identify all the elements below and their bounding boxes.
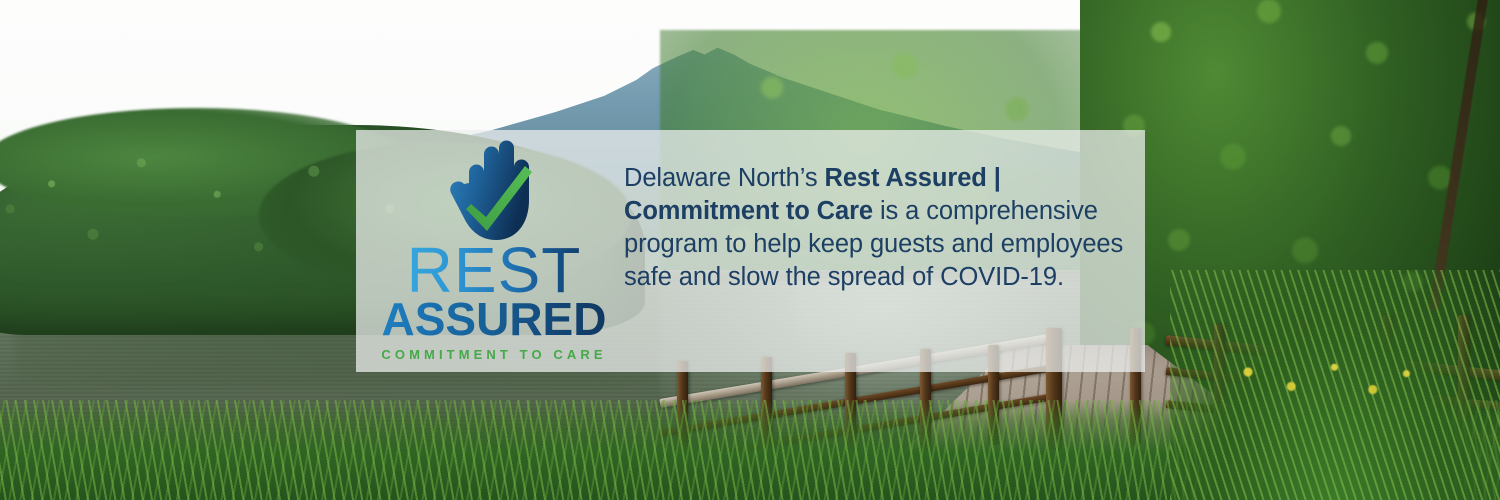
info-panel: REST ASSURED COMMITMENT TO CARE Delaware… [356,130,1145,372]
copy-lead: Delaware North’s [624,164,825,192]
yellow-wildflowers [1200,340,1440,420]
logo-word-assured: ASSURED [382,298,607,340]
logo-tagline: COMMITMENT TO CARE [381,347,606,362]
panel-copy: Delaware North’s Rest Assured | Commitme… [618,130,1145,372]
logo-word-rest: REST [407,244,582,296]
rest-assured-banner: REST ASSURED COMMITMENT TO CARE Delaware… [0,0,1500,500]
hand-with-checkmark-icon [439,138,549,246]
rest-assured-logo: REST ASSURED COMMITMENT TO CARE [356,130,618,372]
program-description: Delaware North’s Rest Assured | Commitme… [624,162,1131,295]
